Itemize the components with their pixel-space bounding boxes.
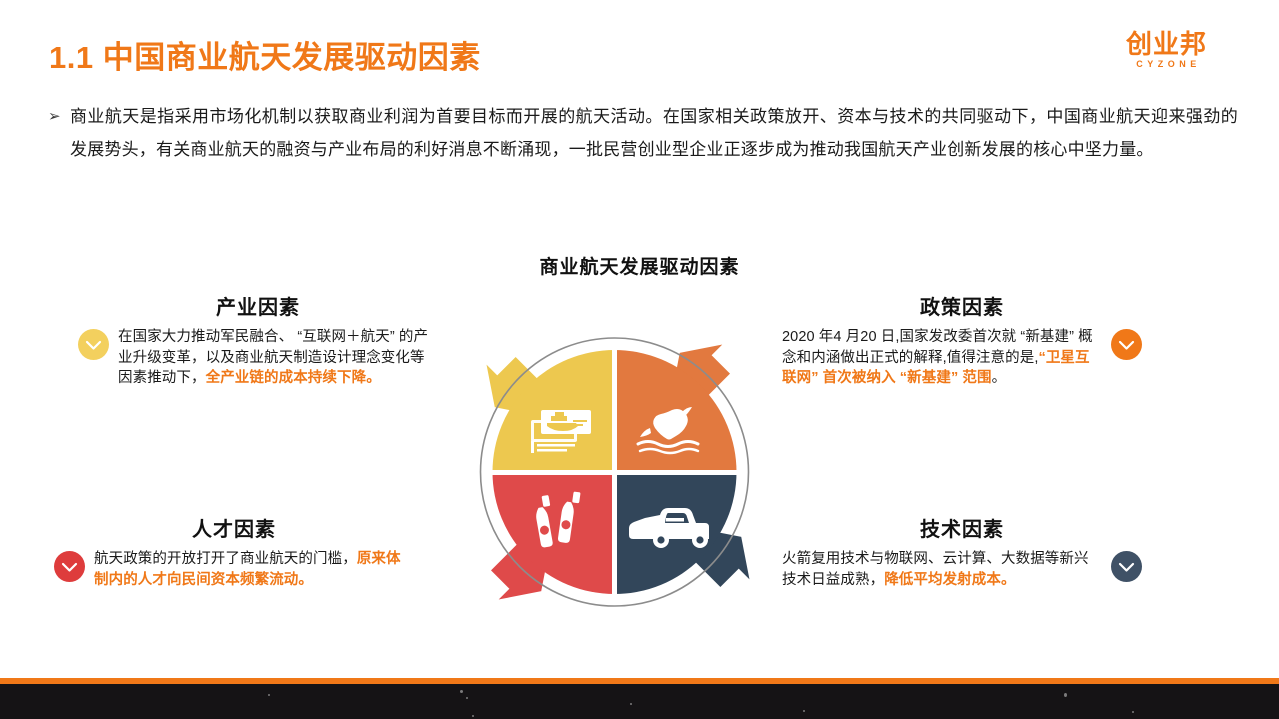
- brand-logo-cn: 创业邦: [1126, 31, 1207, 57]
- factor-title-policy: 政策因素: [782, 291, 1142, 320]
- footer-band: [0, 684, 1279, 719]
- factor-block-policy: 政策因素 2020 年4 月20 日,国家发改委首次就 “新基建” 概念和内涵做…: [782, 291, 1142, 389]
- diagram-heading: 商业航天发展驱动因素: [0, 252, 1279, 279]
- factor-text-industry: 在国家大力推动军民融合、 “互联网＋航天” 的产业升级变革，以及商业航天制造设计…: [118, 327, 438, 389]
- chevron-down-circle-icon[interactable]: [78, 329, 109, 360]
- factor-text-talent: 航天政策的开放打开了商业航天的门槛，原来体制内的人才向民间资本频繁流动。: [94, 549, 414, 590]
- factor-title-tech: 技术因素: [782, 513, 1142, 542]
- page-title: 1.1 中国商业航天发展驱动因素: [49, 32, 481, 77]
- chevron-down-circle-icon[interactable]: [1111, 551, 1142, 582]
- factor-block-industry: 产业因素 在国家大力推动军民融合、 “互联网＋航天” 的产业升级变革，以及商业航…: [78, 291, 438, 389]
- brand-logo-en: CYZONE: [1126, 60, 1207, 69]
- intro-paragraph: ➢ 商业航天是指采用市场化机制以获取商业利润为首要目标而开展的航天活动。在国家相…: [48, 100, 1238, 166]
- factor-text-highlight-industry: 全产业链的成本持续下降。: [206, 370, 381, 386]
- factor-text-tail-policy: 。: [992, 370, 1007, 386]
- intro-text: 商业航天是指采用市场化机制以获取商业利润为首要目标而开展的航天活动。在国家相关政…: [70, 100, 1238, 166]
- chevron-down-circle-icon[interactable]: [54, 551, 85, 582]
- factor-block-talent: 人才因素 航天政策的开放打开了商业航天的门槛，原来体制内的人才向民间资本频繁流动…: [54, 513, 414, 590]
- slide-root: 1.1 中国商业航天发展驱动因素 创业邦 CYZONE ➢ 商业航天是指采用市场…: [0, 0, 1279, 719]
- factor-text-tech: 火箭复用技术与物联网、云计算、大数据等新兴技术日益成熟，降低平均发射成本。: [782, 549, 1102, 590]
- factor-text-highlight-tech: 降低平均发射成本。: [884, 572, 1015, 588]
- factor-title-talent: 人才因素: [54, 513, 414, 542]
- bullet-arrow-icon: ➢: [48, 100, 70, 133]
- factor-block-tech: 技术因素 火箭复用技术与物联网、云计算、大数据等新兴技术日益成熟，降低平均发射成…: [782, 513, 1142, 590]
- factor-text-plain-talent: 航天政策的开放打开了商业航天的门槛，: [94, 551, 357, 567]
- chevron-down-circle-icon[interactable]: [1111, 329, 1142, 360]
- brand-logo: 创业邦 CYZONE: [1126, 31, 1207, 69]
- factor-title-industry: 产业因素: [78, 291, 438, 320]
- circular-diagram: [452, 322, 777, 622]
- factor-text-policy: 2020 年4 月20 日,国家发改委首次就 “新基建” 概念和内涵做出正式的解…: [782, 327, 1102, 389]
